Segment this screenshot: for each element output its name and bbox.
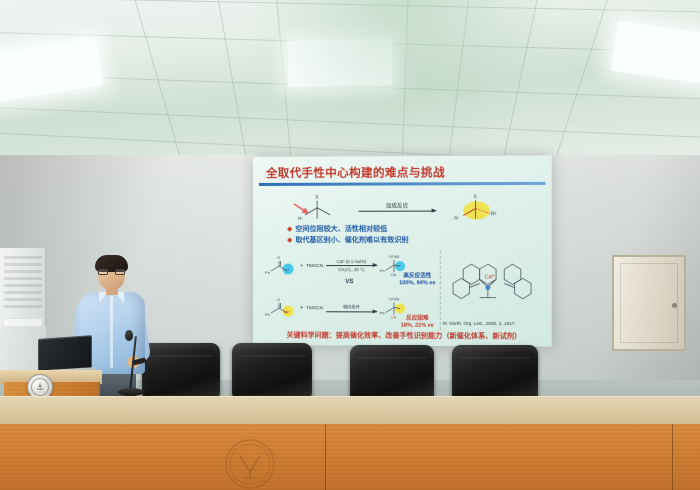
reaction-a-arrow-icon xyxy=(326,265,377,266)
conference-table-front xyxy=(0,424,700,490)
vs-label: VS xyxy=(345,279,353,285)
desk-institution-emblem xyxy=(224,438,276,490)
chair-backrest xyxy=(452,345,538,400)
laptop-screen[interactable] xyxy=(38,335,92,372)
ceiling xyxy=(0,0,700,165)
slide-citation: M. North, Org. Lett., 2000, 2, 1617 xyxy=(443,321,515,326)
reactant-x-label: X xyxy=(315,195,319,201)
reaction-a-arrow-group: Cat* (0.1 mol%) CH₂Cl₂, 25 °C xyxy=(326,259,377,273)
top-reaction-scheme: X R¹ 加成反应 X xyxy=(265,190,539,223)
presenter-shirt-placket xyxy=(110,296,113,368)
bullet-text: 空间位阻较大、活性相对较低 xyxy=(295,226,387,233)
cabinet-panel xyxy=(620,263,678,343)
podium-emblem-glyph: ⚓ xyxy=(31,378,49,396)
bullet-diamond-icon: ◆ xyxy=(287,237,292,244)
table-panel-seam xyxy=(325,424,326,490)
reaction-a-product-top: OTMS xyxy=(389,255,400,259)
product-r1-label: R¹ xyxy=(454,216,459,221)
slide-lower-region: O Ph H + TMSCN Cat* (0.1 mol%) xyxy=(261,251,543,330)
wall-cabinet[interactable] xyxy=(612,255,686,351)
plus-icon: + xyxy=(300,263,303,269)
scheme-arrow-label: 加成反应 xyxy=(359,201,436,209)
list-item: ◆空间位阻较大、活性相对较低 xyxy=(287,225,521,236)
svg-text:Ph: Ph xyxy=(380,268,385,273)
reaction-a-condition-top: Cat* (0.1 mol%) xyxy=(326,259,377,264)
reaction-comparison-column: O Ph H + TMSCN Cat* (0.1 mol%) xyxy=(261,251,441,330)
reaction-b-ph-label: Ph xyxy=(265,312,270,317)
microphone-base xyxy=(118,388,144,396)
conference-room-scene: 全取代手性中心构建的难点与挑战 X R¹ 加成反应 xyxy=(0,0,700,490)
chair-backrest xyxy=(232,343,312,398)
reaction-b-result: 反应困难 18%, 22% ee xyxy=(392,316,443,330)
slide-title-rule xyxy=(259,182,546,186)
top-scheme-product: X R² R¹ xyxy=(442,191,514,222)
catalyst-structure-diagram: Cat* xyxy=(449,253,535,310)
table-panel-seam xyxy=(672,424,673,490)
chair-backrest xyxy=(350,345,434,400)
plus-icon: + xyxy=(300,305,303,311)
catalyst-structure-column: Cat* M. North, Org. Lett., 2000, 2, 1617 xyxy=(441,251,544,330)
reaction-a-substrate: O Ph H xyxy=(265,253,297,279)
cabinet-knob-icon[interactable] xyxy=(672,303,677,308)
slide-bullet-list: ◆空间位阻较大、活性相对较低 ◆取代基区别小、催化剂难以有效识别 xyxy=(287,225,521,247)
reaction-a-reagent: TMSCN xyxy=(306,264,323,269)
microphone-head-icon xyxy=(125,330,133,341)
reaction-a-ph-label: Ph xyxy=(265,270,270,275)
reaction-a-result: 高反应活性 100%, 94% ee xyxy=(392,273,443,287)
presentation-slide: 全取代手性中心构建的难点与挑战 X R¹ 加成反应 xyxy=(253,155,552,346)
reaction-b-arrow-icon xyxy=(326,311,377,312)
reaction-b-group-label: Me xyxy=(284,310,289,314)
conference-chair[interactable] xyxy=(232,343,312,398)
reaction-a-condition-bottom: CH₂Cl₂, 25 °C xyxy=(326,267,377,272)
slide-footer-text: 关键科学问题：提高催化效率、改善手性识别能力（新催化体系、新试剂） xyxy=(263,330,546,341)
reaction-b-condition-top: 相同条件 xyxy=(326,304,377,310)
reaction-a-result-line2: 100%, 94% ee xyxy=(392,280,443,287)
product-x-label: X xyxy=(473,194,477,200)
reaction-b-product-top: OTMS xyxy=(389,297,400,301)
reaction-b-reagent: TMSCN xyxy=(306,306,323,311)
reactant-r-label: R¹ xyxy=(298,216,303,221)
list-item: ◆取代基区别小、催化剂难以有效识别 xyxy=(287,236,521,247)
top-scheme-reactant: X R¹ xyxy=(290,192,352,222)
svg-text:Ph: Ph xyxy=(380,310,385,315)
reaction-b-arrow-group: 相同条件 xyxy=(326,304,377,312)
reaction-a-group-label: H xyxy=(286,267,289,272)
ceiling-light-panel-left xyxy=(0,38,103,103)
product-r2-label: R² xyxy=(491,211,497,217)
svg-text:O: O xyxy=(277,255,280,260)
conference-chair[interactable] xyxy=(452,345,538,400)
slide-title: 全取代手性中心构建的难点与挑战 xyxy=(266,164,445,181)
ceiling-light-panel-right xyxy=(611,21,700,85)
catalyst-metal-label: Cat* xyxy=(485,274,495,280)
bullet-text: 取代基区别小、催化剂难以有效识别 xyxy=(295,237,408,244)
projection-screen: 全取代手性中心构建的难点与挑战 X R¹ 加成反应 xyxy=(253,155,552,346)
ceiling-light-panel-center xyxy=(288,39,393,87)
svg-text:O: O xyxy=(277,297,280,302)
conference-chair[interactable] xyxy=(350,345,434,400)
scheme-arrow-group: 加成反应 xyxy=(359,201,436,211)
reaction-b-result-line2: 18%, 22% ee xyxy=(392,322,443,329)
scheme-arrow-icon xyxy=(359,211,436,212)
bullet-diamond-icon: ◆ xyxy=(287,226,292,233)
reaction-b-substrate: O Ph Me xyxy=(265,295,297,321)
glasses-icon xyxy=(98,269,125,275)
